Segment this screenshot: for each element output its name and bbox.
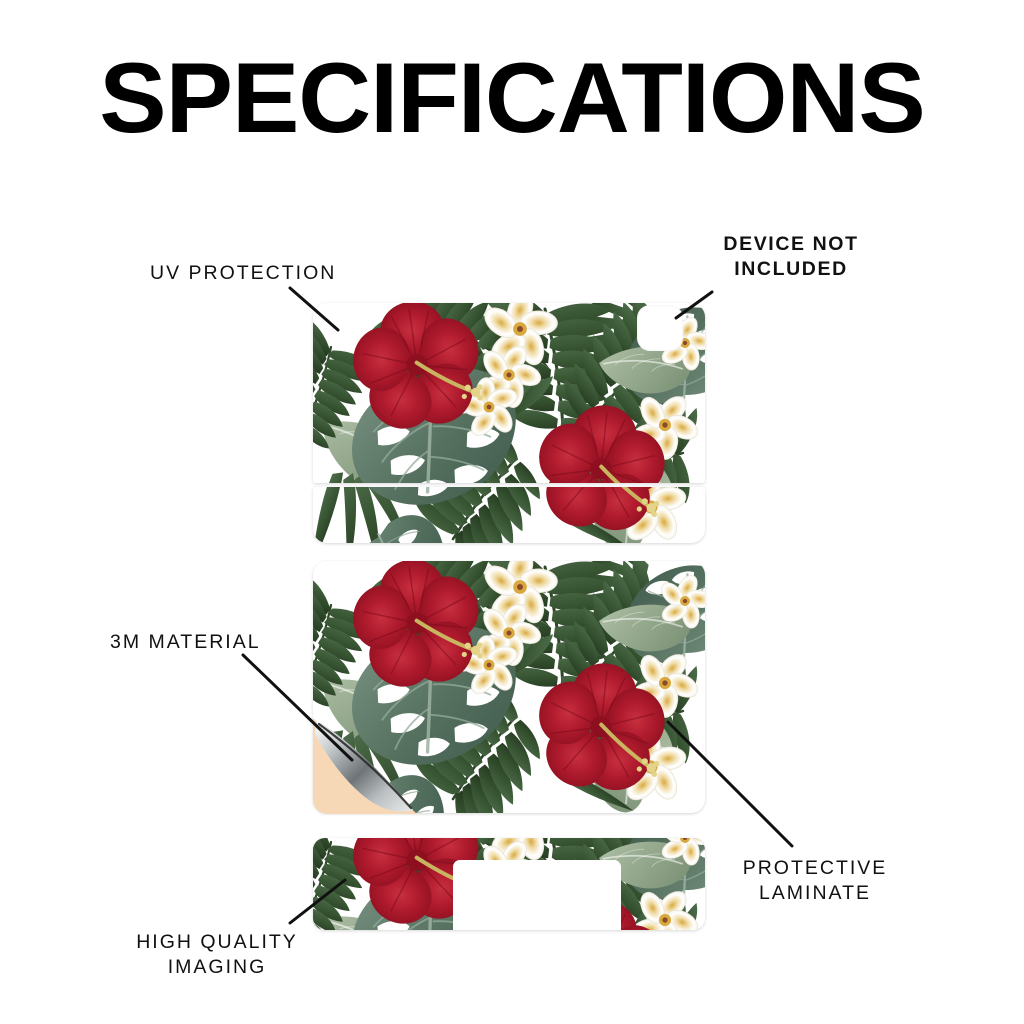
page-title: SPECIFICATIONS	[0, 48, 1024, 147]
skin-artwork-front	[313, 561, 705, 813]
tablet-front-skin-panel[interactable]	[313, 561, 705, 813]
tablet-back-skin-upper-panel[interactable]	[313, 303, 705, 483]
tablet-back-skin-lower-panel[interactable]	[313, 487, 705, 543]
camera-cutout	[637, 305, 683, 351]
callout-label-protective-laminate: PROTECTIVE LAMINATE	[735, 856, 895, 907]
callout-label-device-not-included: DEVICE NOT INCLUDED	[716, 232, 866, 283]
callout-label-3m-material: 3M MATERIAL	[110, 630, 261, 655]
callout-label-high-quality-imaging: HIGH QUALITY IMAGING	[118, 930, 316, 981]
skin-artwork-back-lower	[313, 487, 705, 543]
specifications-page: SPECIFICATIONS	[0, 0, 1024, 1024]
port-cutout	[453, 860, 621, 930]
callout-label-uv-protection: UV PROTECTION	[150, 261, 336, 286]
tablet-side-skin-strip-panel[interactable]	[313, 838, 705, 930]
